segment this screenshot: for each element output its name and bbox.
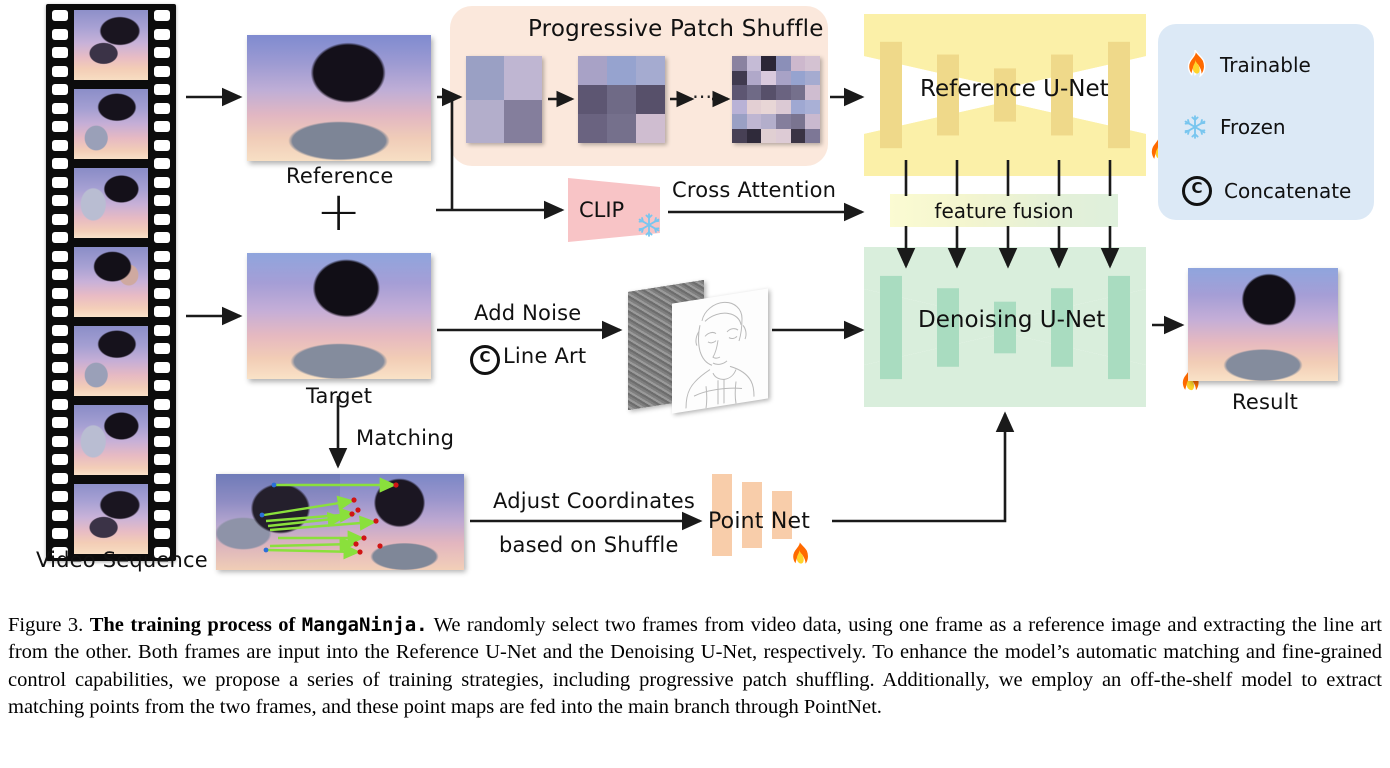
unet-stage-bar [1108, 276, 1130, 379]
patch-tile [578, 85, 607, 114]
point-net-label: Point Net [708, 509, 810, 534]
reference-image [247, 35, 431, 161]
line-art-sketch [672, 288, 768, 413]
legend-label-frozen: Frozen [1220, 115, 1286, 139]
patch-tile [466, 100, 504, 144]
sprocket-hole [154, 121, 170, 132]
feature-fusion-label: feature fusion [934, 199, 1073, 223]
sprocket-hole [154, 399, 170, 410]
sprocket-hole [154, 510, 170, 521]
legend-item-frozen: Frozen [1182, 114, 1286, 140]
sprocket-hole [154, 306, 170, 317]
caption-figure-number: Figure 3. [8, 614, 83, 636]
unet-stage-bar [880, 42, 902, 148]
matching-arrows [216, 474, 464, 570]
sprocket-hole [52, 380, 68, 391]
sprocket-hole [154, 528, 170, 539]
sprocket-hole [52, 528, 68, 539]
filmstrip-frame [74, 247, 148, 317]
sprocket-hole [52, 121, 68, 132]
unet-stage-bar [1108, 42, 1130, 148]
patch-tile [732, 114, 747, 129]
sprocket-hole [154, 140, 170, 151]
clip-label: CLIP [579, 198, 624, 222]
patch-tile [761, 71, 776, 86]
sprocket-hole [154, 103, 170, 114]
line-art-label: Line Art [503, 344, 586, 368]
result-image [1188, 268, 1338, 381]
patch-tile [732, 100, 747, 115]
filmstrip-frame-art [74, 10, 148, 80]
fire-icon [1182, 50, 1208, 80]
patch-tile [761, 100, 776, 115]
filmstrip-frame-art [74, 405, 148, 475]
patch-tile [732, 56, 747, 71]
patch-tile [791, 129, 806, 144]
noisy-lineart-panels [628, 282, 768, 407]
sprocket-hole [52, 158, 68, 169]
sprocket-hole [52, 10, 68, 21]
filmstrip-frame-art [74, 89, 148, 159]
patch-tile [578, 114, 607, 143]
patch-tile [805, 100, 820, 115]
filmstrip-frame-art [74, 484, 148, 554]
patch-tile [776, 71, 791, 86]
sprocket-hole [154, 10, 170, 21]
patch-tile [776, 129, 791, 144]
sprocket-hole [154, 214, 170, 225]
legend-label-trainable: Trainable [1220, 53, 1311, 77]
patch-tile [776, 56, 791, 71]
patch-tile [504, 56, 542, 100]
filmstrip-frame [74, 405, 148, 475]
sprocket-hole [52, 343, 68, 354]
sprocket-hole [52, 454, 68, 465]
sprocket-hole [52, 232, 68, 243]
snowflake-icon [1182, 114, 1208, 140]
progressive-patch-shuffle-title: Progressive Patch Shuffle [528, 16, 824, 42]
sprocket-hole [52, 84, 68, 95]
sprocket-hole [52, 362, 68, 373]
sprocket-hole [154, 325, 170, 336]
patch-tile [747, 129, 762, 144]
sprocket-hole [154, 473, 170, 484]
sprocket-hole [52, 177, 68, 188]
sprocket-hole [154, 380, 170, 391]
sprocket-hole [154, 47, 170, 58]
sprocket-hole [154, 158, 170, 169]
reference-unet-label: Reference U-Net [920, 76, 1109, 102]
filmstrip-frame-art [74, 247, 148, 317]
patch-tile [732, 85, 747, 100]
sprocket-hole [52, 325, 68, 336]
patch-tile [747, 100, 762, 115]
unet-stage-bar [880, 276, 902, 379]
patch-tile [761, 129, 776, 144]
patch-tile [791, 56, 806, 71]
patch-tile [761, 114, 776, 129]
filmstrip-frame-art [74, 168, 148, 238]
denoising-unet-label: Denoising U-Net [918, 307, 1105, 333]
patch-tile [805, 85, 820, 100]
result-label: Result [1232, 390, 1298, 414]
filmstrip-frame [74, 168, 148, 238]
add-noise-label: Add Noise [474, 301, 581, 325]
patch-tile [732, 129, 747, 144]
patch-tile [761, 56, 776, 71]
target-label: Target [306, 384, 372, 408]
patch-tile [636, 85, 665, 114]
legend-label-concatenate: Concatenate [1224, 179, 1351, 203]
sprocket-hole [52, 269, 68, 280]
reference-unet: Reference U-Net [860, 10, 1150, 180]
matching-points-visual [216, 474, 464, 570]
filmstrip-frame-art [74, 326, 148, 396]
filmstrip-frame [74, 484, 148, 554]
patch-tile [732, 71, 747, 86]
patch-tile [466, 56, 504, 100]
patch-tile [636, 56, 665, 85]
adjust-coordinates-label: Adjust Coordinates [493, 489, 695, 513]
sprocket-hole [154, 288, 170, 299]
sprocket-hole [52, 103, 68, 114]
feature-fusion-bar: feature fusion [890, 194, 1118, 227]
patch-tile [607, 85, 636, 114]
patch-tile [791, 85, 806, 100]
concatenate-icon: C [470, 345, 500, 375]
sprocket-hole [52, 66, 68, 77]
sprocket-hole [154, 84, 170, 95]
sprocket-hole [154, 436, 170, 447]
sprocket-hole [52, 214, 68, 225]
patch-tile [791, 114, 806, 129]
patch-tile [776, 100, 791, 115]
sprocket-hole [52, 306, 68, 317]
snowflake-icon [636, 212, 662, 238]
sprocket-hole [52, 473, 68, 484]
legend-item-concatenate: C Concatenate [1182, 176, 1351, 206]
patch-grid-stage-1 [466, 56, 542, 143]
sprocket-hole [154, 269, 170, 280]
line-art-panel [672, 288, 768, 413]
patch-tile [791, 100, 806, 115]
patch-tile [776, 114, 791, 129]
caption-title-mono: MangaNinja. [302, 614, 428, 636]
patch-tile [805, 71, 820, 86]
patch-tile [504, 100, 542, 144]
sprocket-hole [52, 29, 68, 40]
sprocket-hole [154, 29, 170, 40]
caption-title-prefix: The training process of [90, 614, 302, 636]
plus-sign: + [316, 190, 361, 234]
sprocket-hole [154, 362, 170, 373]
legend-box: Trainable Frozen C Concatenate [1158, 24, 1374, 220]
sprocket-hole [52, 140, 68, 151]
matching-label: Matching [356, 426, 454, 450]
sprocket-hole [52, 251, 68, 262]
sprocket-hole [52, 436, 68, 447]
sprocket-hole [154, 195, 170, 206]
fire-icon-pointnet [786, 540, 812, 570]
patch-tile [636, 114, 665, 143]
figure-caption: Figure 3. The training process of MangaN… [8, 612, 1382, 721]
patch-tile [747, 85, 762, 100]
legend-item-trainable: Trainable [1182, 50, 1311, 80]
patch-tile [607, 114, 636, 143]
sprocket-hole [52, 47, 68, 58]
sprocket-hole [154, 454, 170, 465]
video-sequence-filmstrip [46, 4, 176, 561]
sprocket-holes-right [154, 4, 170, 561]
sprocket-hole [52, 399, 68, 410]
sprocket-holes-left [52, 4, 68, 561]
sprocket-hole [154, 343, 170, 354]
patch-tile [791, 71, 806, 86]
sprocket-hole [154, 251, 170, 262]
denoising-unet: Denoising U-Net [860, 245, 1150, 410]
patch-grid-stage-2 [578, 56, 665, 143]
patch-tile [578, 56, 607, 85]
sprocket-hole [154, 491, 170, 502]
patch-tile [747, 114, 762, 129]
filmstrip-frame [74, 89, 148, 159]
patch-tile [607, 56, 636, 85]
patch-tile [747, 71, 762, 86]
patch-grid-stage-3 [732, 56, 820, 143]
video-sequence-label: Video Sequence [36, 548, 208, 572]
sprocket-hole [52, 510, 68, 521]
filmstrip-frame [74, 326, 148, 396]
sprocket-hole [52, 491, 68, 502]
sprocket-hole [154, 232, 170, 243]
patch-tile [805, 129, 820, 144]
patch-tile [747, 56, 762, 71]
patch-tile [776, 85, 791, 100]
sprocket-hole [154, 66, 170, 77]
patch-shuffle-ellipsis: ⋯ [692, 84, 712, 108]
patch-tile [761, 85, 776, 100]
based-on-shuffle-label: based on Shuffle [499, 533, 679, 557]
patch-tile [805, 114, 820, 129]
sprocket-hole [52, 195, 68, 206]
patch-tile [805, 56, 820, 71]
figure-diagram: Video Sequence Reference + Target Progre… [0, 0, 1390, 605]
sprocket-hole [154, 417, 170, 428]
sprocket-hole [154, 177, 170, 188]
concatenate-icon: C [1182, 176, 1212, 206]
cross-attention-label: Cross Attention [672, 178, 836, 202]
target-image [247, 253, 431, 379]
filmstrip-frame [74, 10, 148, 80]
sprocket-hole [52, 288, 68, 299]
sprocket-hole [52, 417, 68, 428]
